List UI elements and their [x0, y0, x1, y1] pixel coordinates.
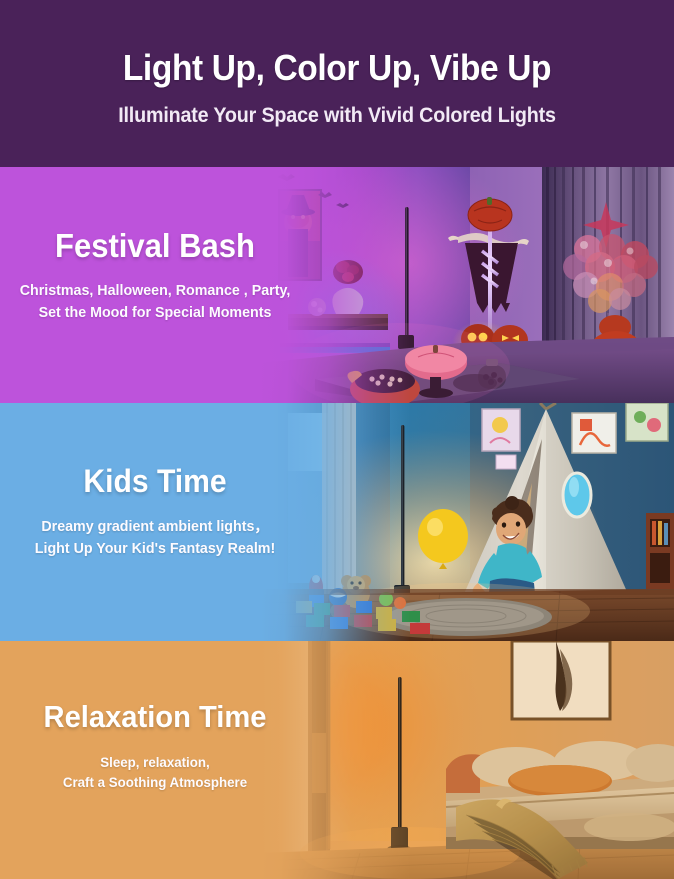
bookshelf: [646, 513, 674, 589]
panel-title-relaxation-time: Relaxation Time: [9, 701, 300, 732]
product-feature-infographic: Light Up, Color Up, Vibe Up Illuminate Y…: [0, 0, 674, 879]
scene-image-halloween-room: [260, 167, 674, 403]
panel-subtitle-festival-bash: Christmas, Halloween, Romance , Party, S…: [8, 280, 303, 324]
panel-subtitle-line-2: Light Up Your Kid's Fantasy Realm!: [8, 538, 303, 560]
kids-playroom-illustration: [260, 403, 674, 641]
panel-subtitle-kids-time: Dreamy gradient ambient lights， Light Up…: [8, 516, 303, 560]
feature-panel-kids-time: Kids Time Dreamy gradient ambient lights…: [0, 403, 674, 641]
feature-panel-relaxation-time: Relaxation Time Sleep, relaxation, Craft…: [0, 641, 674, 879]
festival-bash-text-block: Festival Bash Christmas, Halloween, Roma…: [0, 229, 310, 324]
panel-subtitle-line-1: Dreamy gradient ambient lights，: [8, 516, 303, 538]
panel-subtitle-line-2: Craft a Soothing Atmosphere: [8, 772, 303, 792]
scene-image-kids-playroom: [260, 403, 674, 641]
panel-subtitle-relaxation-time: Sleep, relaxation, Craft a Soothing Atmo…: [8, 752, 303, 793]
page-title: Light Up, Color Up, Vibe Up: [24, 50, 651, 86]
panel-subtitle-line-1: Sleep, relaxation,: [8, 752, 303, 772]
halloween-room-illustration: [260, 167, 674, 403]
page-subtitle: Illuminate Your Space with Vivid Colored…: [20, 103, 654, 128]
panel-title-festival-bash: Festival Bash: [9, 229, 300, 262]
panel-subtitle-line-2: Set the Mood for Special Moments: [8, 302, 303, 324]
bedroom-illustration: [260, 641, 674, 879]
disco-ball: [308, 298, 326, 316]
kids-time-text-block: Kids Time Dreamy gradient ambient lights…: [0, 465, 310, 560]
panel-subtitle-line-1: Christmas, Halloween, Romance , Party,: [8, 280, 303, 302]
header-banner: Light Up, Color Up, Vibe Up Illuminate Y…: [0, 0, 674, 167]
relaxation-time-text-block: Relaxation Time Sleep, relaxation, Craft…: [0, 701, 310, 793]
panel-title-kids-time: Kids Time: [9, 465, 300, 497]
feature-panel-festival-bash: Festival Bash Christmas, Halloween, Roma…: [0, 167, 674, 403]
scene-image-bedroom: [260, 641, 674, 879]
